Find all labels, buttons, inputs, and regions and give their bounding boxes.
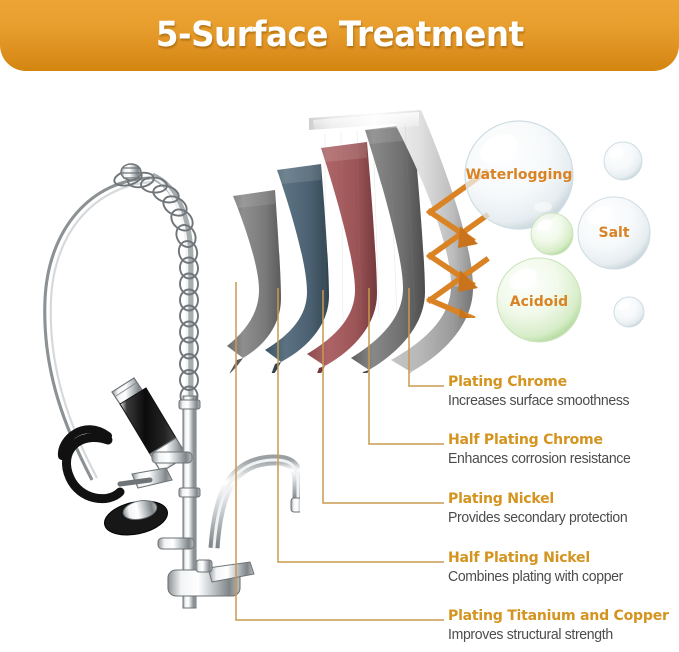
callout-plating-titanium-and-copper: Plating Titanium and Copper Improves str… [448,608,679,644]
page-title: 5-Surface Treatment [156,18,524,53]
faucet-mixing-body [168,560,254,596]
bubble-waterlogging [465,121,573,229]
header-banner: 5-Surface Treatment [0,0,679,71]
callout-title: Half Plating Chrome [448,432,672,449]
callout-desc: Increases surface smoothness [448,393,672,410]
faucet-swing-spout [214,460,300,548]
infographic-root: 5-Surface Treatment [0,0,679,652]
callout-title: Plating Nickel [448,491,672,508]
faucet-riser-and-spring [45,164,200,480]
bubble-small-top-right [604,142,642,180]
callout-desc: Provides secondary protection [448,510,672,527]
callout-half-plating-chrome: Half Plating Chrome Enhances corrosion r… [448,432,679,468]
callout-desc: Improves structural strength [448,627,672,644]
callout-desc: Combines plating with copper [448,569,672,586]
callout-title: Plating Titanium and Copper [448,608,672,625]
callout-title: Half Plating Nickel [448,550,672,567]
callout-desc: Enhances corrosion resistance [448,451,672,468]
callout-title: Plating Chrome [448,374,672,391]
callout-plating-nickel: Plating Nickel Provides secondary protec… [448,491,679,527]
callout-half-plating-nickel: Half Plating Nickel Combines plating wit… [448,550,679,586]
bubble-small-green-middle [531,213,573,255]
callout-plating-chrome: Plating Chrome Increases surface smoothn… [448,374,679,410]
layer-plating-titanium-and-copper [227,190,281,358]
bubble-small-bottom-right [614,297,644,327]
bubble-acidoid [497,258,581,342]
bubble-salt [578,197,650,269]
contaminant-bubbles: Waterlogging Salt Acidoid [455,115,679,350]
